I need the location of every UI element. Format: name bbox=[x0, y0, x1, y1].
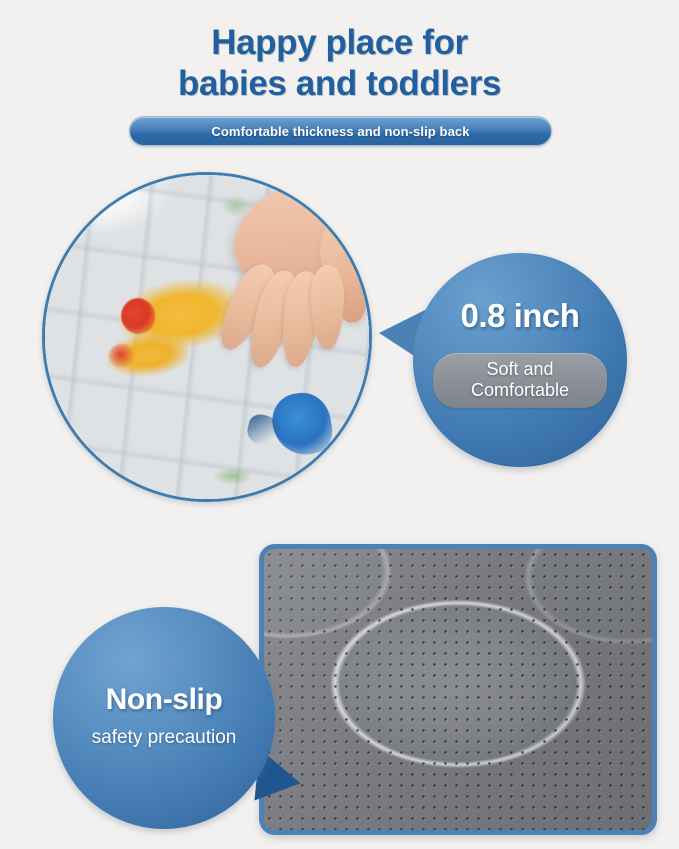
comfort-badge-line-2: Comfortable bbox=[433, 380, 607, 401]
page-title-line-2: babies and toddlers bbox=[0, 63, 679, 104]
green-print-bottom-icon bbox=[213, 467, 253, 485]
comfort-badge-line-1: Soft and bbox=[433, 359, 607, 380]
hand-pressing-illustration bbox=[195, 183, 372, 373]
finger-shape bbox=[311, 265, 344, 349]
nonslip-callout: Non-slip safety precaution bbox=[53, 607, 275, 829]
subtitle-banner: Comfortable thickness and non-slip back bbox=[129, 116, 552, 146]
infographic-canvas: Happy place for babies and toddlers Comf… bbox=[0, 0, 679, 849]
callout-bubble bbox=[53, 607, 275, 829]
photo-sheen-overlay bbox=[264, 549, 652, 830]
nonslip-title: Non-slip bbox=[53, 683, 275, 717]
page-title: Happy place for babies and toddlers bbox=[0, 22, 679, 105]
page-title-line-1: Happy place for bbox=[0, 22, 679, 63]
thickness-photo bbox=[42, 172, 372, 502]
nonslip-subtitle: safety precaution bbox=[53, 727, 275, 749]
crown-print-secondary-icon bbox=[105, 329, 191, 381]
subtitle-banner-label: Comfortable thickness and non-slip back bbox=[211, 124, 469, 139]
nonslip-photo bbox=[259, 544, 657, 835]
comfort-badge: Soft and Comfortable bbox=[433, 353, 607, 408]
thickness-value: 0.8 inch bbox=[413, 297, 627, 335]
thickness-callout: 0.8 inch Soft and Comfortable bbox=[413, 253, 627, 467]
